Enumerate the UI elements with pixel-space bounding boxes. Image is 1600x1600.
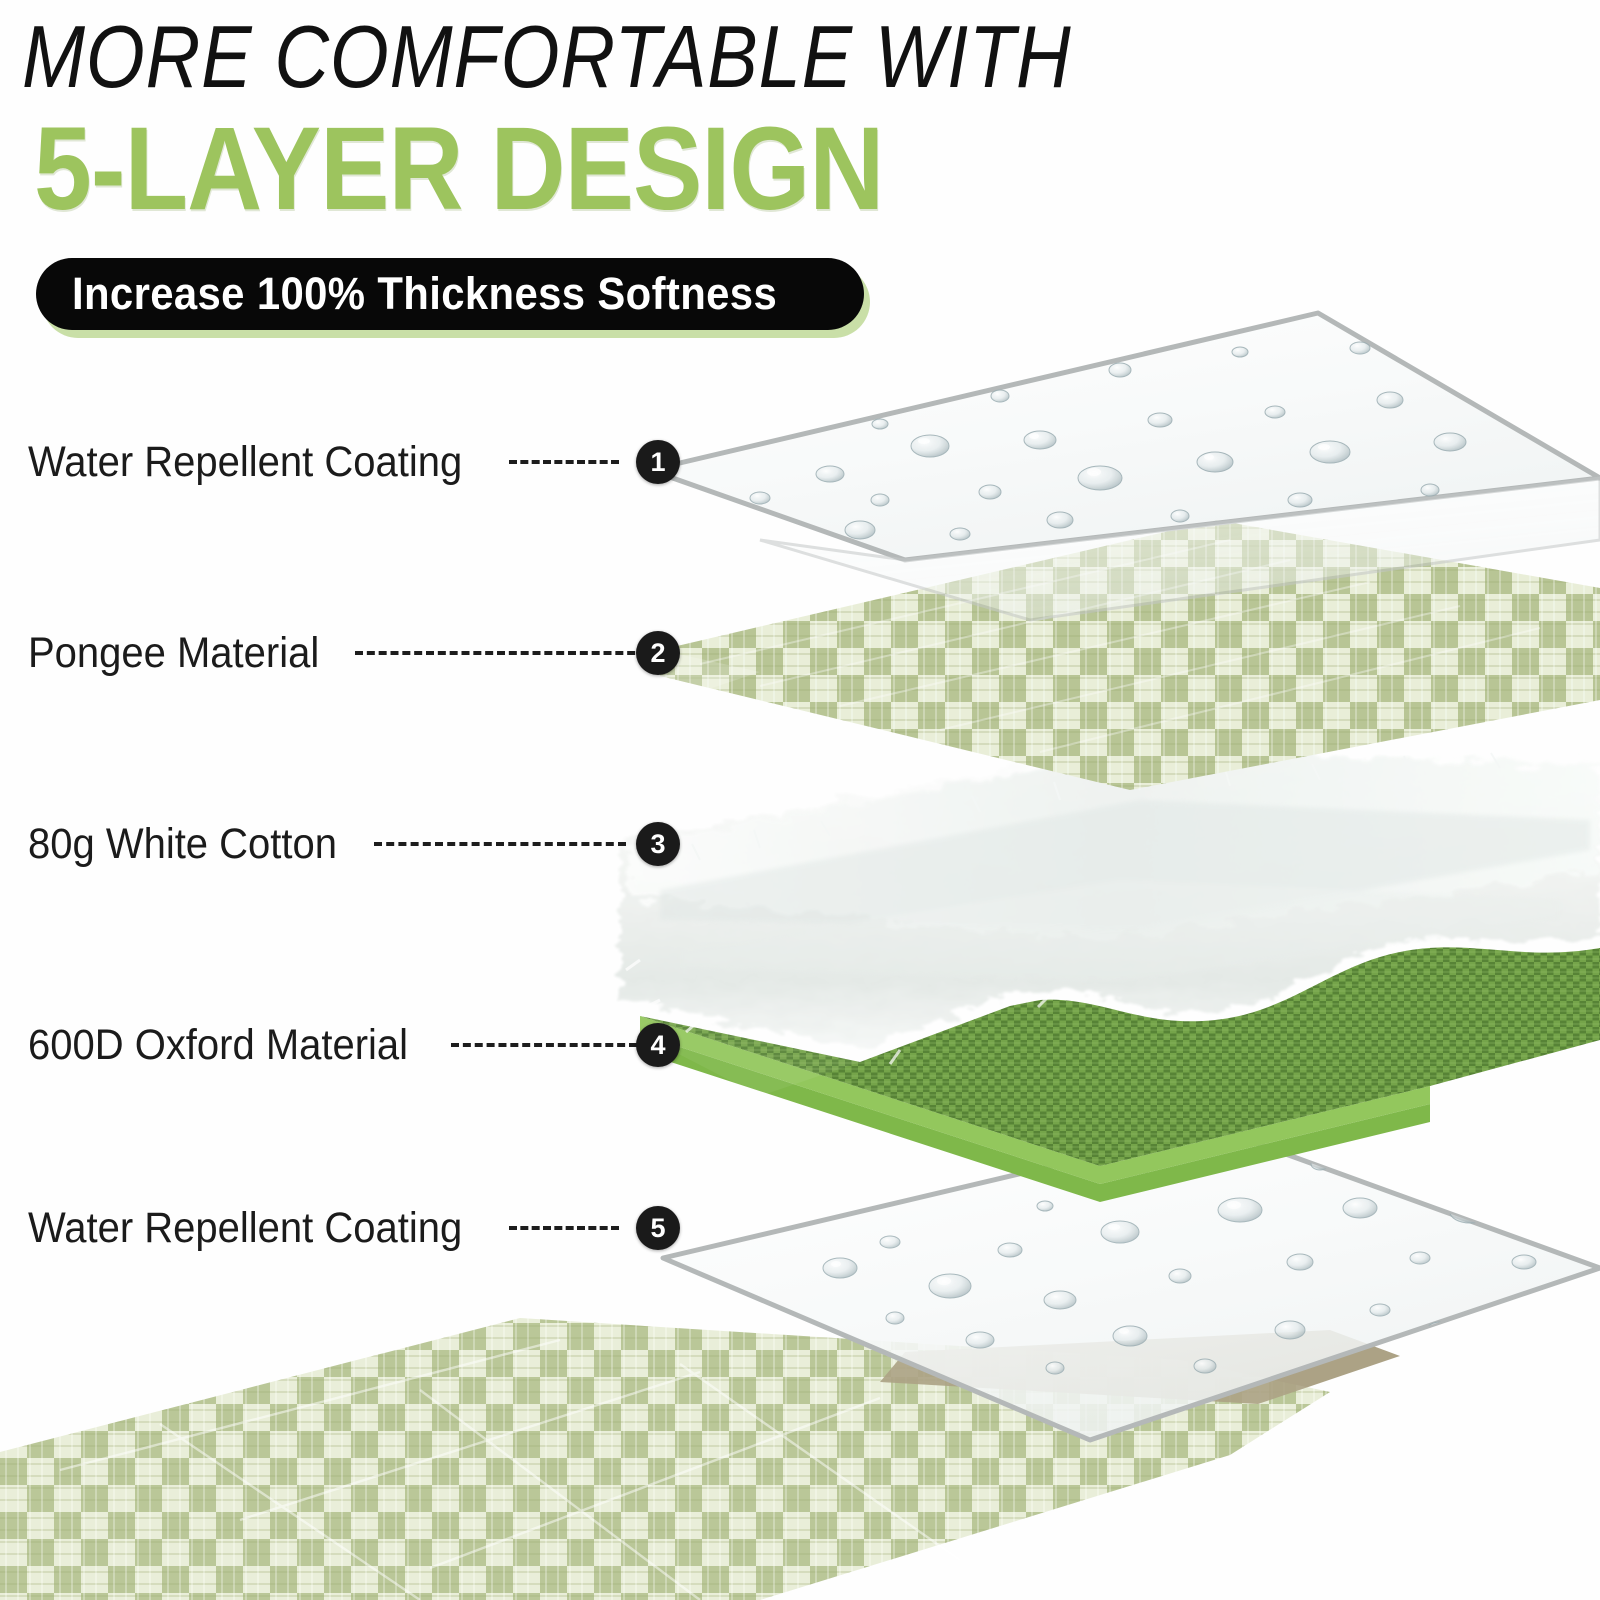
layer-4-oxford-slab — [640, 947, 1600, 1202]
thickness-softness-badge: Increase 100% Thickness Softness — [36, 258, 864, 330]
callout-layer-2: Pongee Material — [28, 627, 643, 679]
layer-number-badge-1: 1 — [636, 440, 680, 484]
layer-number-badge-4: 4 — [636, 1023, 680, 1067]
infographic-canvas: MORE COMFORTABLE WITH 5-LAYER DESIGN Inc… — [0, 0, 1600, 1600]
callout-layer-5: Water Repellent Coating — [28, 1202, 615, 1254]
layer-1-coating-sheet — [650, 313, 1600, 620]
bottom-product-plaid — [0, 1318, 1400, 1600]
callout-label-2: Pongee Material — [28, 627, 319, 679]
callout-label-5: Water Repellent Coating — [28, 1202, 462, 1254]
leader-line-4 — [451, 1043, 637, 1047]
callout-layer-3: 80g White Cotton — [28, 818, 622, 870]
callout-layer-4: 600D Oxford Material — [28, 1019, 633, 1071]
callout-label-3: 80g White Cotton — [28, 818, 337, 870]
layer-number-badge-2: 2 — [636, 631, 680, 675]
callout-label-1: Water Repellent Coating — [28, 436, 462, 488]
leader-line-1 — [509, 460, 619, 464]
layer-number-badge-5: 5 — [636, 1206, 680, 1250]
layer-number-badge-3: 3 — [636, 822, 680, 866]
badge-label: Increase 100% Thickness Softness — [72, 268, 777, 320]
callout-label-4: 600D Oxford Material — [28, 1019, 408, 1071]
layer-3-cotton-batting — [620, 742, 1600, 1064]
layer-stack-illustration — [0, 0, 1600, 1600]
headline-line-2: 5-LAYER DESIGN — [34, 106, 1134, 232]
leader-line-2 — [355, 651, 647, 655]
callout-layer-1: Water Repellent Coating — [28, 436, 615, 488]
leader-line-3 — [374, 842, 626, 846]
layer-5-coating-sheet — [663, 1128, 1600, 1440]
layer-2-pongee-plaid — [660, 520, 1600, 790]
leader-line-5 — [509, 1226, 619, 1230]
headline-line-1: MORE COMFORTABLE WITH — [22, 8, 985, 106]
